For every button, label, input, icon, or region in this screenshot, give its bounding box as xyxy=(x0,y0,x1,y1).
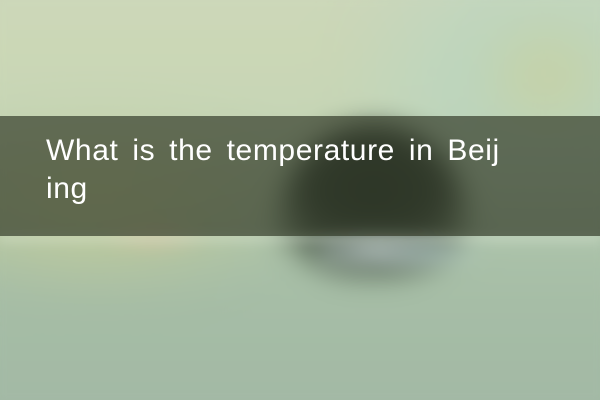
caption-band: What is the temperature in Beij ing xyxy=(0,116,600,236)
screenshot-root: What is the temperature in Beij ing xyxy=(0,0,600,400)
band-underglow xyxy=(0,234,600,250)
caption-text: What is the temperature in Beij ing xyxy=(46,132,586,208)
